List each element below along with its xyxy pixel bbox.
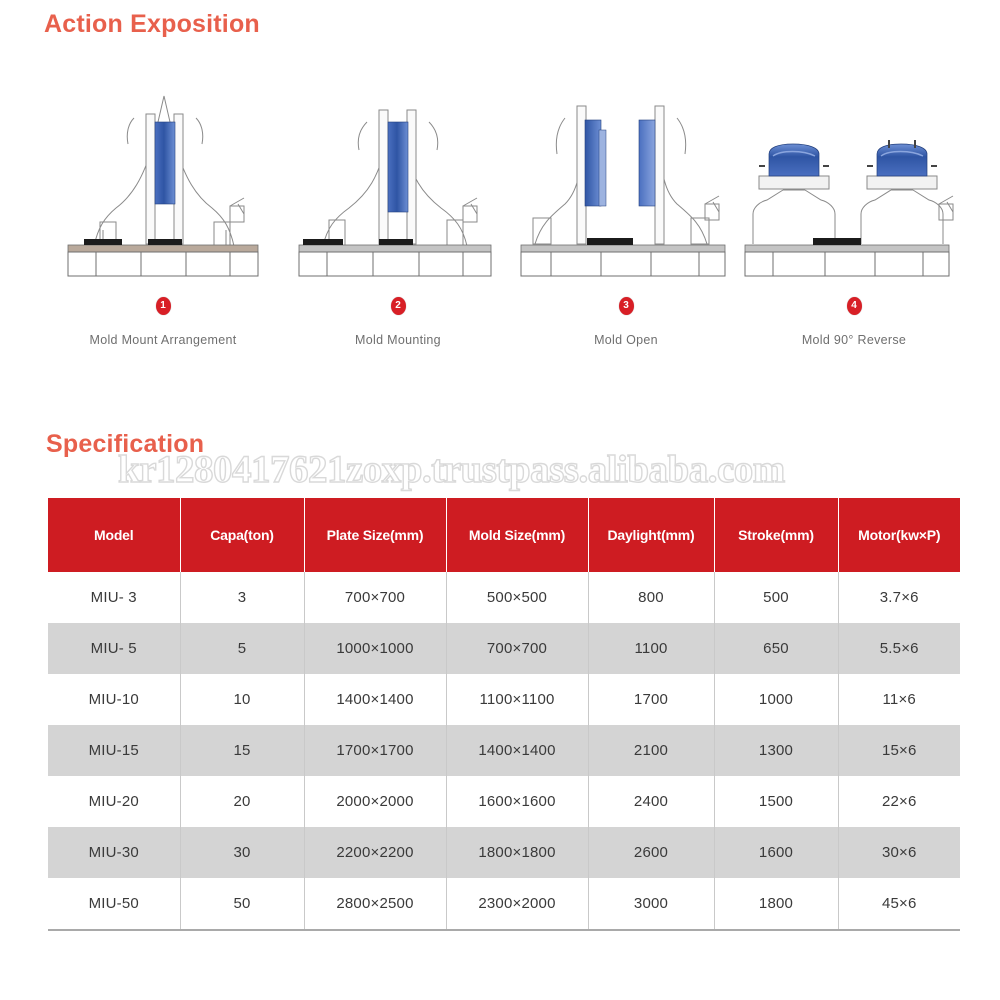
cell-stroke: 1300 bbox=[714, 725, 838, 776]
specification-table: Model Capa(ton) Plate Size(mm) Mold Size… bbox=[48, 498, 960, 931]
press-machine-diagram-3 bbox=[511, 78, 741, 283]
table-row: MIU-30302200×22001800×18002600160030×6 bbox=[48, 827, 960, 878]
diagram-item-1: 1 Mold Mount Arrangement bbox=[48, 78, 278, 378]
column-header-model: Model bbox=[48, 498, 180, 572]
press-machine-diagram-2 bbox=[283, 78, 513, 283]
cell-mold-size: 500×500 bbox=[446, 572, 588, 623]
diagram-caption-1: Mold Mount Arrangement bbox=[48, 333, 278, 347]
cell-capa: 3 bbox=[180, 572, 304, 623]
table-row: MIU-20202000×20001600×16002400150022×6 bbox=[48, 776, 960, 827]
diagram-caption-4: Mold 90° Reverse bbox=[739, 333, 969, 347]
specification-title: Specification bbox=[46, 430, 204, 459]
cell-daylight: 800 bbox=[588, 572, 714, 623]
cell-motor: 22×6 bbox=[838, 776, 960, 827]
cell-plate-size: 1000×1000 bbox=[304, 623, 446, 674]
cell-daylight: 2100 bbox=[588, 725, 714, 776]
table-body: MIU- 33700×700500×5008005003.7×6MIU- 551… bbox=[48, 572, 960, 930]
cell-model: MIU-50 bbox=[48, 878, 180, 930]
cell-plate-size: 2200×2200 bbox=[304, 827, 446, 878]
column-header-mold-size: Mold Size(mm) bbox=[446, 498, 588, 572]
cell-model: MIU-30 bbox=[48, 827, 180, 878]
cell-daylight: 1100 bbox=[588, 623, 714, 674]
diagram-item-4: 4 Mold 90° Reverse bbox=[739, 78, 969, 378]
cell-plate-size: 2800×2500 bbox=[304, 878, 446, 930]
cell-motor: 15×6 bbox=[838, 725, 960, 776]
step-badge-3: 3 bbox=[619, 297, 634, 315]
cell-motor: 3.7×6 bbox=[838, 572, 960, 623]
table-row: MIU-50502800×25002300×20003000180045×6 bbox=[48, 878, 960, 930]
table-row: MIU-15151700×17001400×14002100130015×6 bbox=[48, 725, 960, 776]
press-machine-diagram-4 bbox=[739, 78, 969, 283]
cell-plate-size: 700×700 bbox=[304, 572, 446, 623]
cell-motor: 45×6 bbox=[838, 878, 960, 930]
cell-model: MIU-15 bbox=[48, 725, 180, 776]
diagram-caption-2: Mold Mounting bbox=[283, 333, 513, 347]
cell-plate-size: 1400×1400 bbox=[304, 674, 446, 725]
table-header-row: Model Capa(ton) Plate Size(mm) Mold Size… bbox=[48, 498, 960, 572]
cell-model: MIU- 3 bbox=[48, 572, 180, 623]
cell-daylight: 2600 bbox=[588, 827, 714, 878]
step-badge-1: 1 bbox=[156, 297, 171, 315]
cell-model: MIU-10 bbox=[48, 674, 180, 725]
column-header-daylight: Daylight(mm) bbox=[588, 498, 714, 572]
cell-stroke: 650 bbox=[714, 623, 838, 674]
cell-model: MIU- 5 bbox=[48, 623, 180, 674]
column-header-stroke: Stroke(mm) bbox=[714, 498, 838, 572]
column-header-motor: Motor(kw×P) bbox=[838, 498, 960, 572]
cell-stroke: 1000 bbox=[714, 674, 838, 725]
cell-stroke: 1800 bbox=[714, 878, 838, 930]
cell-mold-size: 2300×2000 bbox=[446, 878, 588, 930]
cell-capa: 20 bbox=[180, 776, 304, 827]
cell-mold-size: 1800×1800 bbox=[446, 827, 588, 878]
diagram-item-3: 3 Mold Open bbox=[511, 78, 741, 378]
alibaba-watermark: kr1280417621zoxp.trustpass.alibaba.com bbox=[118, 447, 785, 492]
action-diagram-strip: 1 Mold Mount Arrangement bbox=[0, 78, 1000, 378]
table-row: MIU- 551000×1000700×70011006505.5×6 bbox=[48, 623, 960, 674]
press-machine-diagram-1 bbox=[48, 78, 278, 283]
cell-daylight: 2400 bbox=[588, 776, 714, 827]
action-exposition-title: Action Exposition bbox=[44, 10, 260, 39]
step-badge-2: 2 bbox=[391, 297, 406, 315]
cell-stroke: 1600 bbox=[714, 827, 838, 878]
cell-motor: 5.5×6 bbox=[838, 623, 960, 674]
cell-capa: 50 bbox=[180, 878, 304, 930]
cell-motor: 30×6 bbox=[838, 827, 960, 878]
table-row: MIU- 33700×700500×5008005003.7×6 bbox=[48, 572, 960, 623]
cell-stroke: 1500 bbox=[714, 776, 838, 827]
step-badge-4: 4 bbox=[847, 297, 862, 315]
cell-capa: 10 bbox=[180, 674, 304, 725]
cell-mold-size: 1100×1100 bbox=[446, 674, 588, 725]
cell-mold-size: 1400×1400 bbox=[446, 725, 588, 776]
cell-capa: 30 bbox=[180, 827, 304, 878]
cell-capa: 5 bbox=[180, 623, 304, 674]
cell-capa: 15 bbox=[180, 725, 304, 776]
diagram-item-2: 2 Mold Mounting bbox=[283, 78, 513, 378]
cell-daylight: 3000 bbox=[588, 878, 714, 930]
cell-plate-size: 2000×2000 bbox=[304, 776, 446, 827]
column-header-capa: Capa(ton) bbox=[180, 498, 304, 572]
cell-daylight: 1700 bbox=[588, 674, 714, 725]
cell-motor: 11×6 bbox=[838, 674, 960, 725]
table-row: MIU-10101400×14001100×11001700100011×6 bbox=[48, 674, 960, 725]
cell-stroke: 500 bbox=[714, 572, 838, 623]
table-header: Model Capa(ton) Plate Size(mm) Mold Size… bbox=[48, 498, 960, 572]
cell-mold-size: 1600×1600 bbox=[446, 776, 588, 827]
column-header-plate-size: Plate Size(mm) bbox=[304, 498, 446, 572]
cell-plate-size: 1700×1700 bbox=[304, 725, 446, 776]
cell-mold-size: 700×700 bbox=[446, 623, 588, 674]
diagram-caption-3: Mold Open bbox=[511, 333, 741, 347]
cell-model: MIU-20 bbox=[48, 776, 180, 827]
